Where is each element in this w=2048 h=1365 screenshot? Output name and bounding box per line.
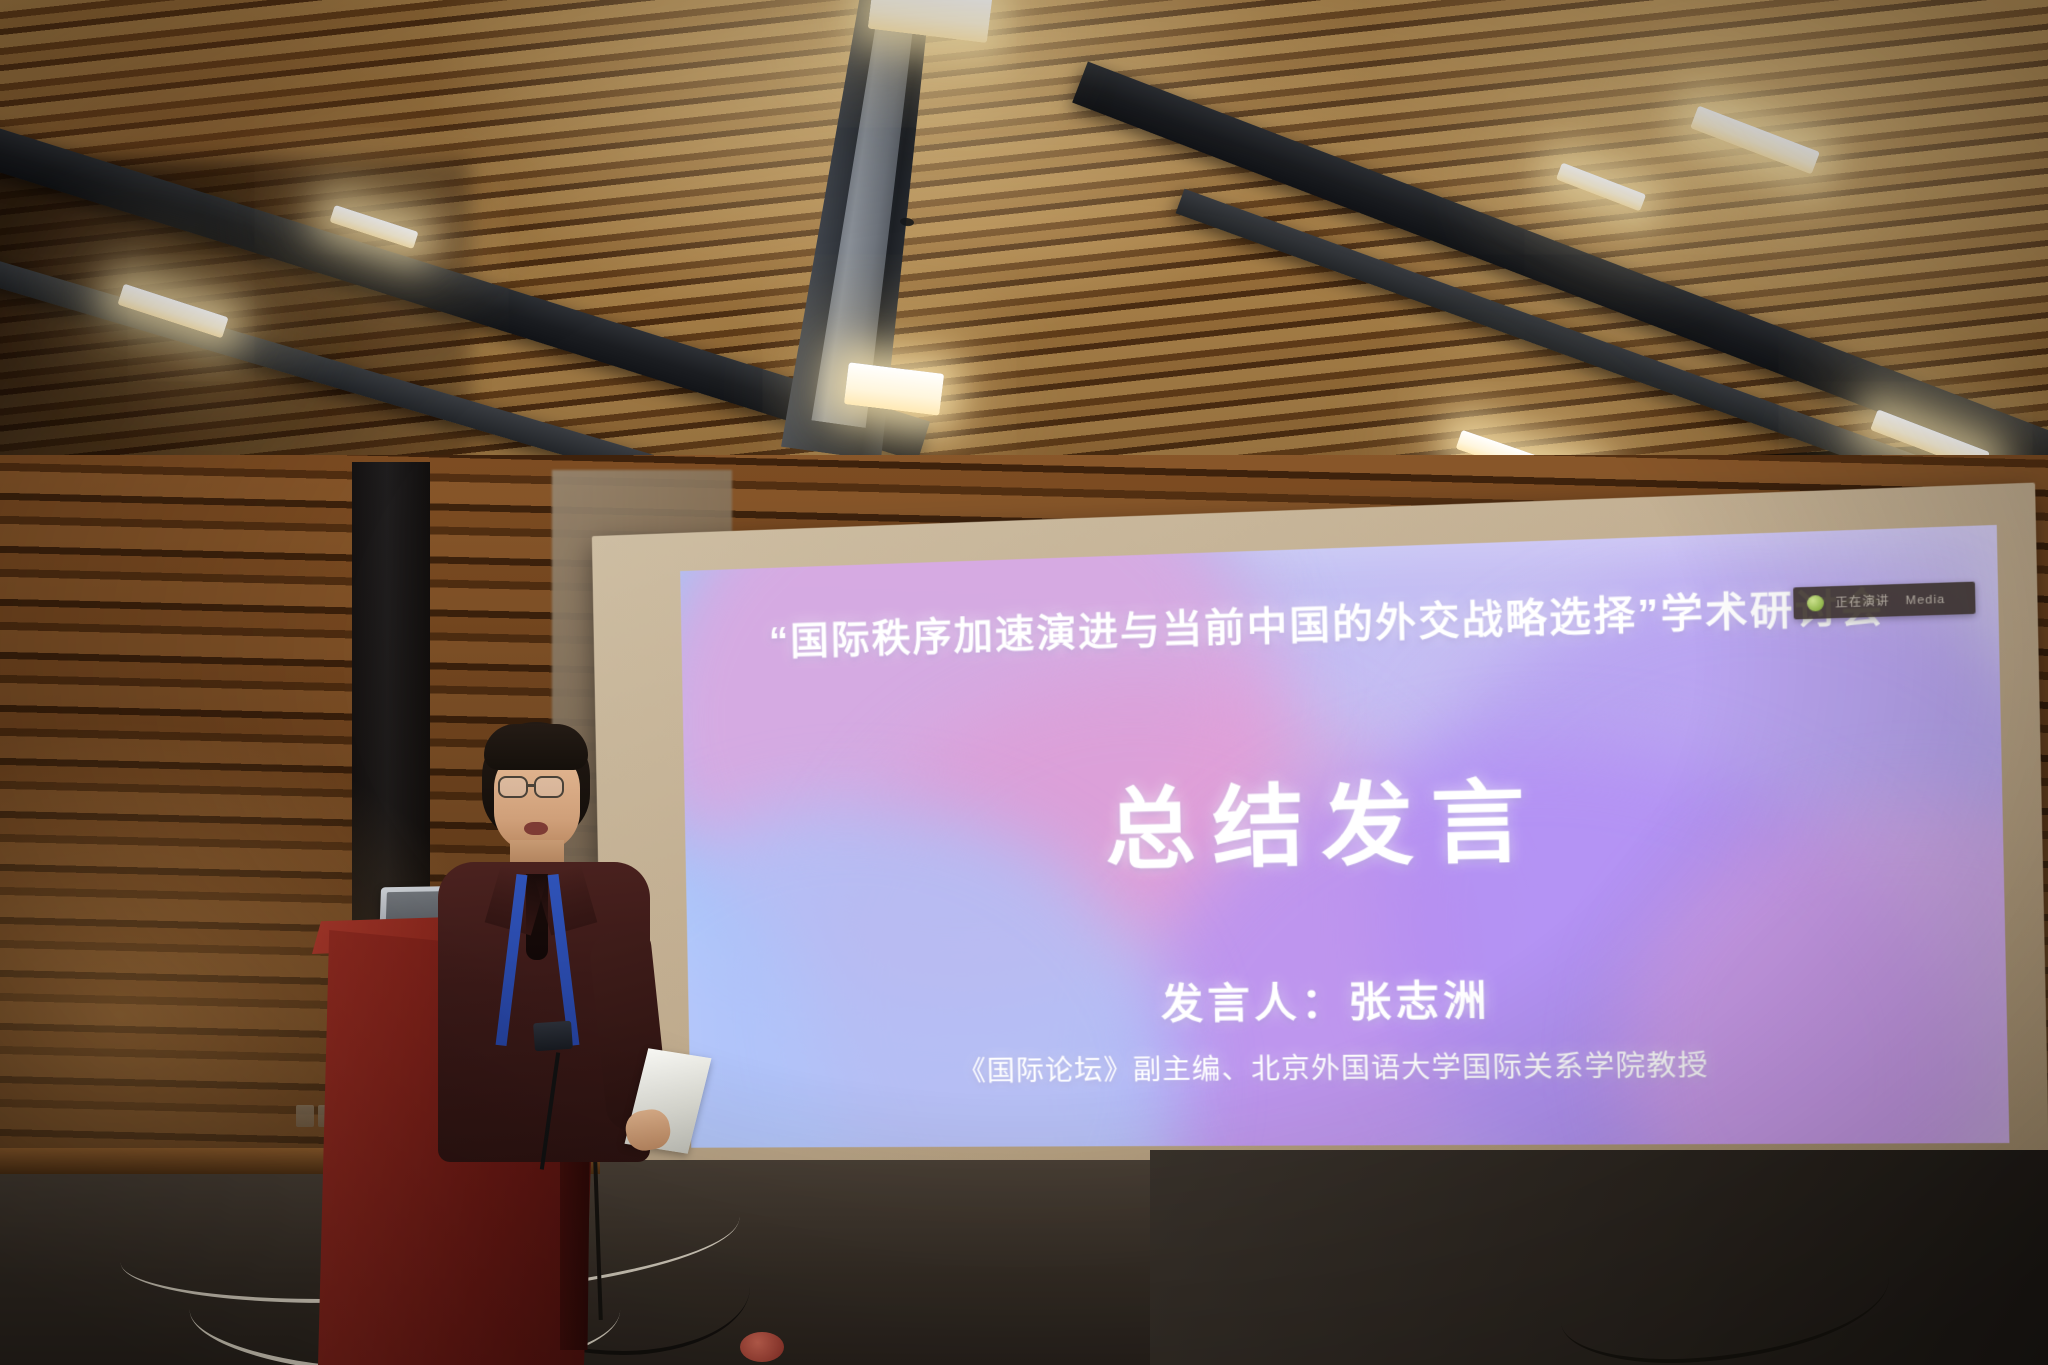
projection-screen-frame: “国际秩序加速演进与当前中国的外交战略选择”学术研讨会 总结发言 发言人：张志洲… — [592, 483, 2048, 1184]
projected-slide: “国际秩序加速演进与当前中国的外交战略选择”学术研讨会 总结发言 发言人：张志洲… — [680, 525, 2009, 1148]
presentation-status-bar[interactable]: 正在演讲Media — [1793, 582, 1975, 620]
speaker-person — [430, 722, 660, 1152]
slide-speaker-affiliation: 《国际论坛》副主编、北京外国语大学国际关系学院教授 — [958, 1042, 1709, 1088]
wall-outlet-3 — [296, 1105, 314, 1127]
speaker-hair-fringe — [484, 724, 588, 770]
slide-speaker-name: 发言人：张志洲 — [1160, 967, 1491, 1031]
floor-red-object — [740, 1332, 784, 1362]
lanyard-badge — [533, 1021, 573, 1052]
glasses-lens-left — [498, 776, 528, 798]
glasses-lens-right — [534, 776, 564, 798]
slide-main-title: 总结发言 — [1104, 748, 1544, 887]
recording-indicator-icon — [1807, 594, 1824, 611]
speaker-mouth — [524, 822, 548, 835]
status-bar-label: 正在演讲Media — [1835, 590, 1946, 611]
lecture-hall-photo: “国际秩序加速演进与当前中国的外交战略选择”学术研讨会 总结发言 发言人：张志洲… — [0, 0, 2048, 1365]
glasses-bridge — [528, 784, 536, 787]
slide-conference-title: “国际秩序加速演进与当前中国的外交战略选择”学术研讨会 — [768, 574, 1885, 666]
